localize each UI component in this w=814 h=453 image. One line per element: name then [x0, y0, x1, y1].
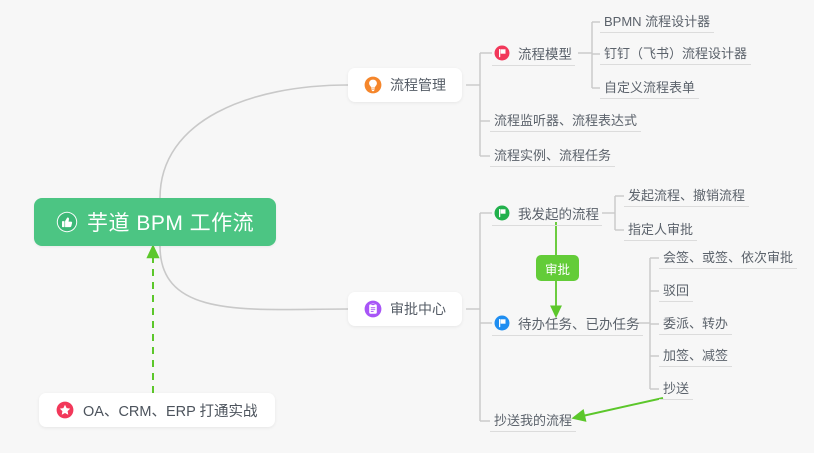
leaf-node-delegate-transfer[interactable]: 委派、转办	[659, 311, 732, 335]
sub-node-my-started-process[interactable]: 我发起的流程	[492, 200, 602, 226]
thumbs-up-icon	[56, 211, 78, 233]
lightbulb-icon	[364, 76, 382, 94]
leaf-node-dingtalk-designer[interactable]: 钉钉（飞书）流程设计器	[600, 41, 751, 65]
sub-node-todo-done-tasks[interactable]: 待办任务、已办任务	[492, 310, 643, 336]
leaf-node-start-cancel-process-label: 发起流程、撤销流程	[628, 185, 745, 204]
branch-node-process-management[interactable]: 流程管理	[348, 68, 462, 102]
sub-node-todo-done-tasks-label: 待办任务、已办任务	[518, 313, 640, 333]
leaf-node-process-instance[interactable]: 流程实例、流程任务	[490, 143, 615, 167]
leaf-node-bpmn-designer-label: BPMN 流程设计器	[604, 11, 710, 30]
star-icon	[56, 401, 74, 419]
leaf-node-cc-my-process[interactable]: 抄送我的流程	[490, 408, 576, 432]
leaf-node-add-remove-sign[interactable]: 加签、减签	[659, 343, 732, 367]
flag-icon	[494, 45, 510, 61]
branch-node-approval-center[interactable]: 审批中心	[348, 292, 462, 326]
leaf-node-assignee-approval-label: 指定人审批	[628, 219, 693, 238]
note-node-integration[interactable]: OA、CRM、ERP 打通实战	[39, 393, 275, 427]
root-node[interactable]: 芋道 BPM 工作流	[34, 198, 276, 246]
note-node-integration-label: OA、CRM、ERP 打通实战	[83, 400, 258, 421]
root-node-label: 芋道 BPM 工作流	[87, 207, 254, 237]
leaf-node-delegate-transfer-label: 委派、转办	[663, 313, 728, 332]
leaf-node-countersign[interactable]: 会签、或签、依次审批	[659, 245, 797, 269]
branch-line-root-to-process-management	[160, 85, 348, 198]
leaf-node-process-listener[interactable]: 流程监听器、流程表达式	[490, 108, 641, 132]
sub-node-process-model-label: 流程模型	[518, 43, 572, 63]
arrow-cc-to-cc-my-process	[578, 398, 663, 417]
tag-node-approval-label: 审批	[545, 259, 570, 278]
leaf-node-assignee-approval[interactable]: 指定人审批	[624, 217, 697, 241]
leaf-node-cc-label: 抄送	[663, 378, 689, 397]
leaf-node-bpmn-designer[interactable]: BPMN 流程设计器	[600, 9, 714, 33]
branch-node-process-management-label: 流程管理	[390, 75, 446, 95]
leaf-node-start-cancel-process[interactable]: 发起流程、撤销流程	[624, 183, 749, 207]
leaf-node-reject-label: 驳回	[663, 280, 689, 299]
mindmap-canvas: 芋道 BPM 工作流 流程管理 流程模型 BPMN 流程设计器 钉钉（飞书	[0, 0, 814, 453]
leaf-node-cc-my-process-label: 抄送我的流程	[494, 410, 572, 429]
clipboard-icon	[364, 300, 382, 318]
leaf-node-process-instance-label: 流程实例、流程任务	[494, 145, 611, 164]
branch-line-root-to-approval-center	[160, 246, 348, 310]
leaf-node-reject[interactable]: 驳回	[659, 278, 693, 302]
branch-node-approval-center-label: 审批中心	[390, 299, 446, 319]
leaf-node-dingtalk-designer-label: 钉钉（飞书）流程设计器	[604, 43, 747, 62]
leaf-node-custom-form[interactable]: 自定义流程表单	[600, 75, 699, 99]
leaf-node-countersign-label: 会签、或签、依次审批	[663, 247, 793, 266]
leaf-node-add-remove-sign-label: 加签、减签	[663, 345, 728, 364]
sub-node-process-model[interactable]: 流程模型	[492, 40, 575, 66]
flag-icon	[494, 205, 510, 221]
tag-node-approval[interactable]: 审批	[536, 255, 579, 281]
leaf-node-custom-form-label: 自定义流程表单	[604, 77, 695, 96]
flag-icon	[494, 315, 510, 331]
leaf-node-process-listener-label: 流程监听器、流程表达式	[494, 110, 637, 129]
leaf-node-cc[interactable]: 抄送	[659, 376, 693, 400]
sub-node-my-started-process-label: 我发起的流程	[518, 203, 599, 223]
